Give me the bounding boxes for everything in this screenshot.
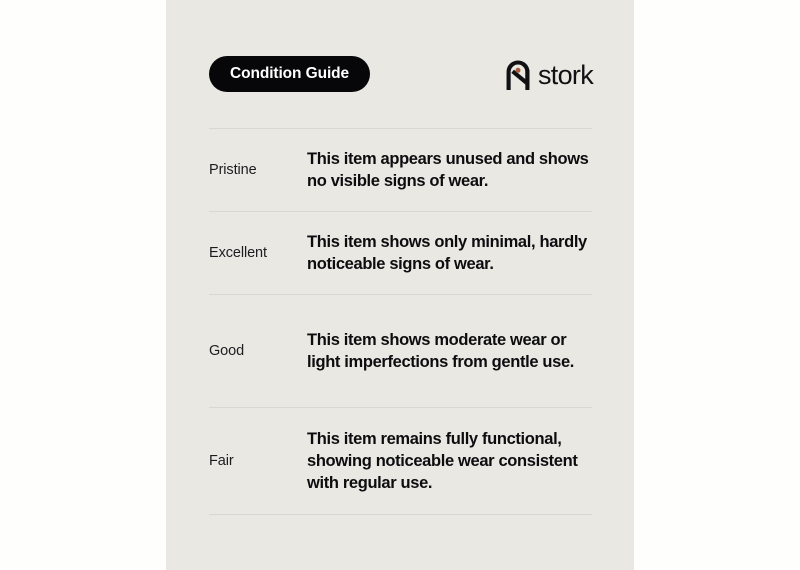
table-divider-bottom	[209, 514, 592, 515]
brand-lockup: stork	[505, 59, 593, 90]
condition-label: Pristine	[209, 161, 307, 180]
stork-arch-logo-icon	[505, 59, 531, 90]
screen: Condition Guide stork Pristine This item…	[0, 0, 800, 570]
condition-label: Excellent	[209, 244, 307, 263]
table-row: Good This item shows moderate wear or li…	[209, 295, 592, 407]
condition-label: Fair	[209, 452, 307, 471]
condition-description: This item shows only minimal, hardly not…	[307, 213, 592, 294]
condition-guide-card: Condition Guide stork Pristine This item…	[166, 0, 634, 570]
condition-description: This item appears unused and shows no vi…	[307, 130, 592, 211]
brand-wordmark: stork	[538, 62, 593, 89]
condition-guide-table: Pristine This item appears unused and sh…	[209, 128, 592, 515]
condition-guide-pill-button[interactable]: Condition Guide	[209, 56, 370, 93]
table-row: Excellent This item shows only minimal, …	[209, 212, 592, 294]
condition-description: This item remains fully functional, show…	[307, 410, 592, 513]
condition-description: This item shows moderate wear or light i…	[307, 311, 592, 392]
card-header: Condition Guide stork	[209, 54, 593, 94]
table-row: Fair This item remains fully functional,…	[209, 408, 592, 514]
table-row: Pristine This item appears unused and sh…	[209, 129, 592, 211]
condition-label: Good	[209, 342, 307, 361]
